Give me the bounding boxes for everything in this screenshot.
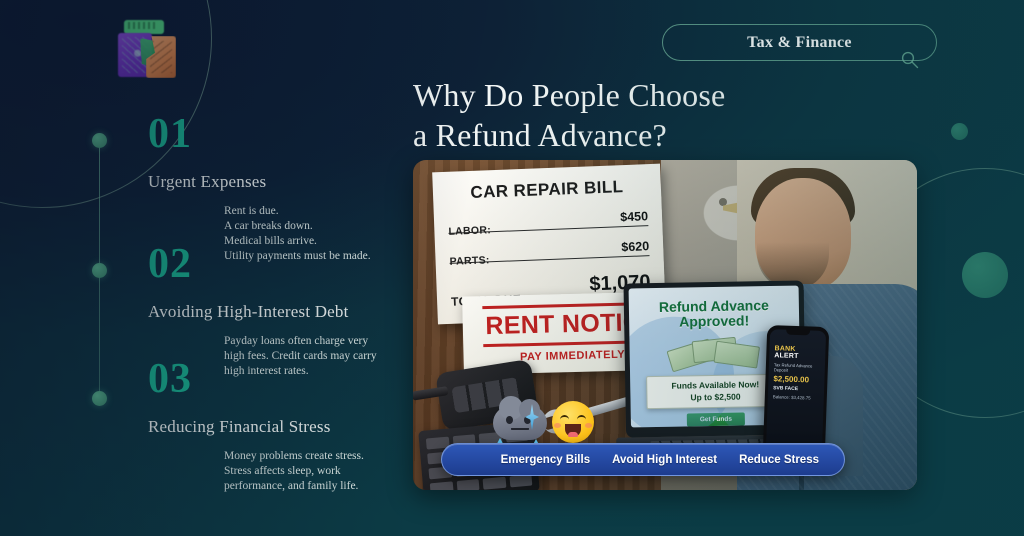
category-badge[interactable]: Tax & Finance (662, 24, 937, 61)
step-title: Reducing Financial Stress (0, 417, 400, 437)
bill-row-value: $450 (620, 209, 648, 224)
steps-list: 01 Urgent Expenses Rent is due. A car br… (0, 0, 410, 536)
funds-note-line-1: Funds Available Now! (649, 379, 781, 391)
table-row: LABOR: $450 (448, 209, 649, 234)
bank-alert-heading: BANK ALERT (774, 345, 820, 361)
bank-alert-source: SVB FACE (773, 385, 819, 393)
search-icon (900, 50, 920, 70)
cash-illustration (666, 334, 763, 372)
bill-row-label: PARTS: (449, 254, 490, 268)
step-number: 03 (0, 358, 400, 400)
bill-row-label: LABOR: (448, 224, 491, 238)
smartphone: BANK ALERT Tax Refund Advance Deposit $2… (763, 325, 830, 459)
page-title: Why Do People Choose a Refund Advance? (413, 76, 973, 155)
bank-alert-amount: $2,500.00 (773, 374, 819, 385)
page-title-line-2: a Refund Advance? (413, 116, 973, 156)
bank-alert-word-2: ALERT (774, 352, 799, 360)
bill-title: CAR REPAIR BILL (447, 176, 648, 204)
step-body-line: Payday loans often charge very (224, 334, 400, 349)
step-body-line: Rent is due. (224, 204, 400, 219)
pill-item-emergency-bills[interactable]: Emergency Bills (413, 454, 601, 466)
hero-photo: CAR REPAIR BILL LABOR: $450 PARTS: $620 … (413, 160, 917, 490)
step-number: 02 (0, 243, 400, 285)
benefits-pill-bar: Emergency Bills Avoid High Interest Redu… (441, 443, 845, 476)
step-number: 01 (0, 113, 400, 155)
step-body-line: Money problems create stress. (224, 449, 400, 464)
poster-canvas: 01 Urgent Expenses Rent is due. A car br… (0, 0, 1024, 536)
pill-item-avoid-high-interest[interactable]: Avoid High Interest (601, 454, 728, 466)
step-title: Urgent Expenses (0, 172, 400, 192)
step-body-line: Stress affects sleep, work (224, 464, 400, 479)
badge-label: Tax & Finance (662, 24, 937, 61)
decorative-dot-large (962, 252, 1008, 298)
funds-note-line-2: Up to $2,500 (649, 391, 781, 403)
list-item: 01 Urgent Expenses Rent is due. A car br… (0, 113, 400, 264)
phone-screen: BANK ALERT Tax Refund Advance Deposit $2… (766, 329, 826, 455)
rent-notice-subtitle: PAY IMMEDIATELY (520, 348, 625, 363)
pill-item-reduce-stress[interactable]: Reduce Stress (728, 454, 830, 466)
page-title-line-1: Why Do People Choose (413, 76, 973, 116)
bank-alert-balance: Balance: $3,428.75 (773, 394, 819, 401)
step-body: Money problems create stress. Stress aff… (0, 449, 400, 494)
table-row: PARTS: $620 (449, 239, 650, 264)
bank-alert-subtitle: Tax Refund Advance Deposit (774, 362, 820, 374)
bill-row-value: $620 (621, 239, 649, 254)
step-body-line: A car breaks down. (224, 219, 400, 234)
step-title: Avoiding High-Interest Debt (0, 302, 400, 322)
step-body-line: performance, and family life. (224, 479, 400, 494)
list-item: 03 Reducing Financial Stress Money probl… (0, 358, 400, 494)
